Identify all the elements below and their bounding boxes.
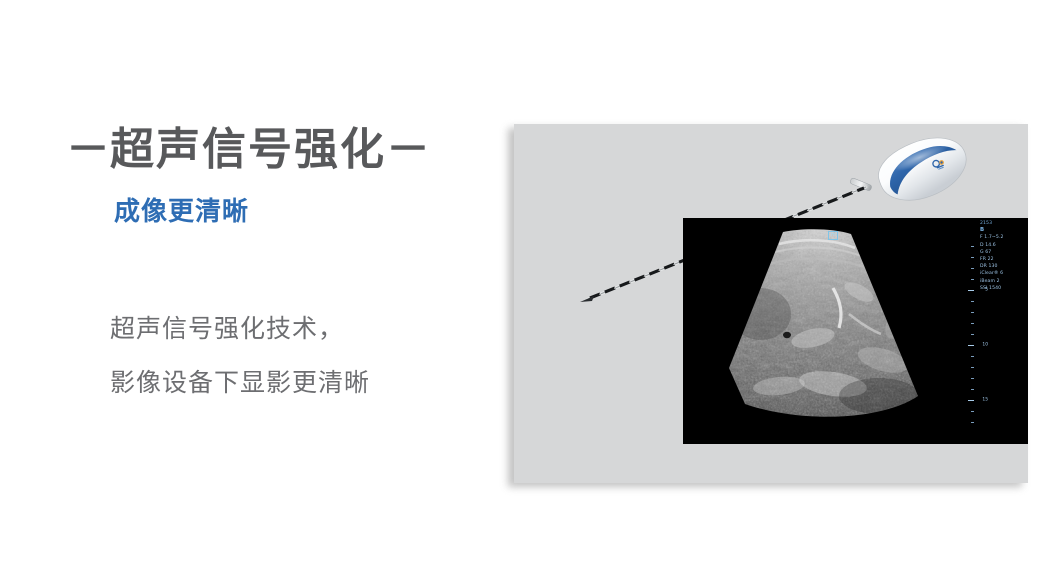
preset-id: 2153 bbox=[980, 220, 1024, 227]
param-gain: G 67 bbox=[980, 249, 1024, 256]
device-grip-accent bbox=[882, 138, 964, 196]
param-dynamic-range: DR 130 bbox=[980, 263, 1024, 270]
needle-tip bbox=[580, 296, 594, 302]
param-depth: D 14.6 bbox=[980, 242, 1024, 249]
param-ibeam: iBeam 2 bbox=[980, 278, 1024, 285]
ultrasound-screen: m 5 10 15 bbox=[683, 218, 1028, 444]
page-title: －超声信号强化－ bbox=[66, 128, 430, 172]
title-text: 超声信号强化 bbox=[110, 125, 386, 174]
text-column: －超声信号强化－ 成像更清晰 超声信号强化技术， 影像设备下显影更清晰 bbox=[0, 0, 505, 585]
manufacturer-logo bbox=[932, 158, 946, 171]
body-line-1: 超声信号强化技术， bbox=[110, 302, 370, 356]
panel-surface: m 5 10 15 bbox=[514, 124, 1028, 483]
depth-label-15: 15 bbox=[982, 398, 988, 403]
product-photo-panel: m 5 10 15 bbox=[514, 124, 1028, 483]
param-iclear: iClear® 6 bbox=[980, 270, 1024, 277]
probe-orientation-marker: m bbox=[828, 231, 838, 240]
scan-mode-label: B bbox=[980, 227, 1024, 234]
param-frame-rate: FR 22 bbox=[980, 256, 1024, 263]
body-copy: 超声信号强化技术， 影像设备下显影更清晰 bbox=[110, 302, 370, 410]
title-dash-right: － bbox=[386, 125, 430, 174]
depth-scale: 5 10 15 bbox=[962, 246, 978, 424]
param-ssi: SSI 1540 bbox=[980, 285, 1024, 292]
device-connector bbox=[850, 177, 873, 191]
device-hub bbox=[871, 126, 975, 212]
title-dash-left: － bbox=[66, 125, 110, 174]
param-frequency: F 1.7~5.2 bbox=[980, 234, 1024, 241]
page-subtitle: 成像更清晰 bbox=[114, 198, 249, 224]
depth-label-10: 10 bbox=[982, 343, 988, 348]
scanner-parameter-readout: 2153 B F 1.7~5.2 D 14.6 G 67 FR 22 DR 13… bbox=[980, 220, 1024, 292]
body-line-2: 影像设备下显影更清晰 bbox=[110, 356, 370, 410]
anechoic-focus bbox=[783, 332, 791, 338]
